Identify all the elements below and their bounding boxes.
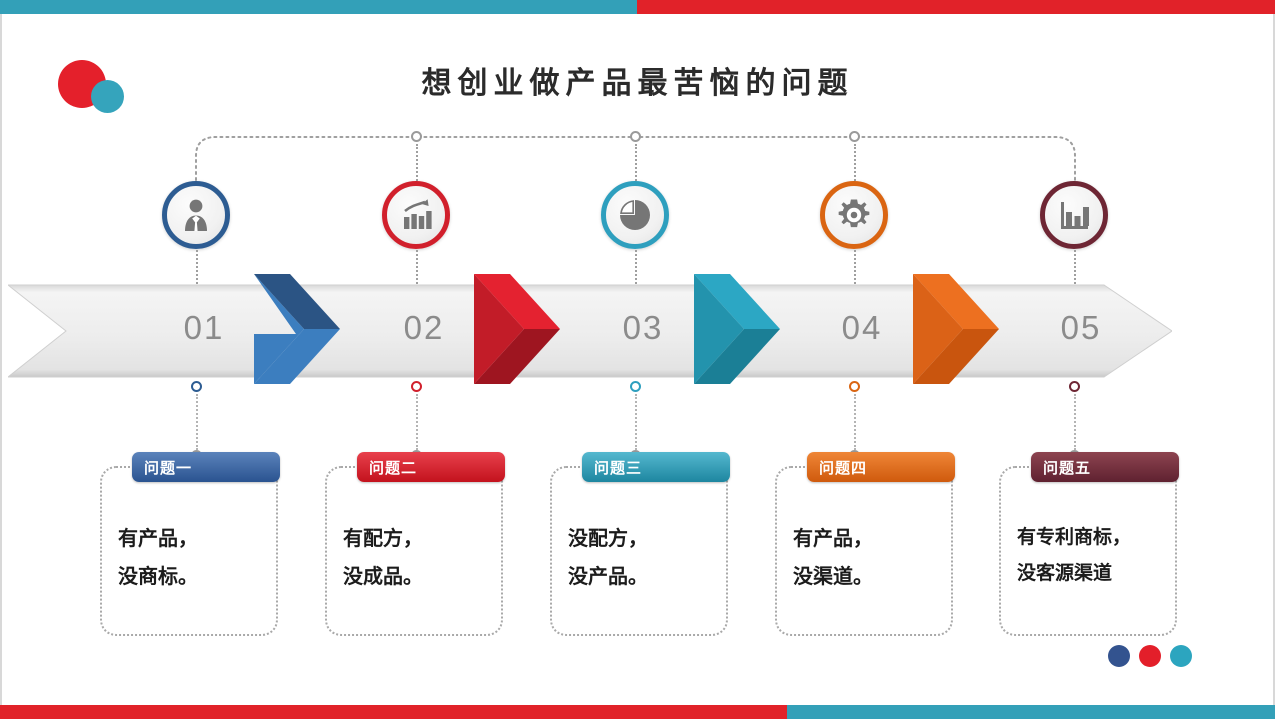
rail-drop-03 [635,144,637,184]
step-connector-top-01 [196,250,198,284]
problem-card-text-04: 有产品， 没渠道。 [793,520,941,596]
businessman-icon [176,195,216,235]
rail-node-marker-04 [849,131,860,142]
chevron-divider-03 [692,272,792,390]
step-icon-02[interactable] [382,181,450,249]
chevron-divider-01 [252,272,352,390]
gear-icon [834,195,874,235]
decor-dot-navy-icon [1108,645,1130,667]
problem-card-02[interactable]: 问题二 有配方， 没成品。 [325,466,503,636]
decor-dot-group [1108,645,1208,669]
decor-dot-red-icon [1139,645,1161,667]
rail-drop-02 [416,144,418,184]
step-connector-bottom-02 [416,394,418,450]
rail-node-marker-02 [411,131,422,142]
problem-card-text-03: 没配方， 没产品。 [568,520,716,596]
problem-card-title-01: 问题一 [132,452,280,482]
problem-card-04[interactable]: 问题四 有产品， 没渠道。 [775,466,953,636]
step-connector-top-03 [635,250,637,284]
step-marker-05 [1069,381,1080,392]
step-connector-bottom-01 [196,394,198,450]
step-connector-bottom-04 [854,394,856,450]
pie-chart-icon [615,195,655,235]
step-marker-02 [411,381,422,392]
step-marker-03 [630,381,641,392]
problem-card-title-02: 问题二 [357,452,505,482]
step-icon-04[interactable] [820,181,888,249]
bar-chart-growth-icon [396,195,436,235]
problem-card-text-02: 有配方， 没成品。 [343,520,491,596]
problem-card-text-05: 有专利商标， 没客源渠道 [1017,520,1165,592]
problem-card-01[interactable]: 问题一 有产品， 没商标。 [100,466,278,636]
problem-card-title-03: 问题三 [582,452,730,482]
step-connector-top-02 [416,250,418,284]
problem-card-05[interactable]: 问题五 有专利商标， 没客源渠道 [999,466,1177,636]
step-connector-bottom-05 [1074,394,1076,450]
step-icon-01[interactable] [162,181,230,249]
chevron-divider-04 [911,272,1011,390]
timeline-diagram: 01 02 03 04 05 问题一 有产品， 没商标。 问题二 有配方， 没成… [0,0,1275,719]
problem-card-title-05: 问题五 [1031,452,1179,482]
step-marker-01 [191,381,202,392]
problem-card-title-04: 问题四 [807,452,955,482]
step-connector-top-04 [854,250,856,284]
decor-dot-teal-icon [1170,645,1192,667]
problem-card-03[interactable]: 问题三 没配方， 没产品。 [550,466,728,636]
problem-card-text-01: 有产品， 没商标。 [118,520,266,596]
chevron-divider-02 [472,272,572,390]
bar-chart-axis-icon [1054,195,1094,235]
step-icon-03[interactable] [601,181,669,249]
step-connector-bottom-03 [635,394,637,450]
step-icon-05[interactable] [1040,181,1108,249]
rail-drop-04 [854,144,856,184]
step-connector-top-05 [1074,250,1076,284]
rail-node-marker-03 [630,131,641,142]
step-marker-04 [849,381,860,392]
